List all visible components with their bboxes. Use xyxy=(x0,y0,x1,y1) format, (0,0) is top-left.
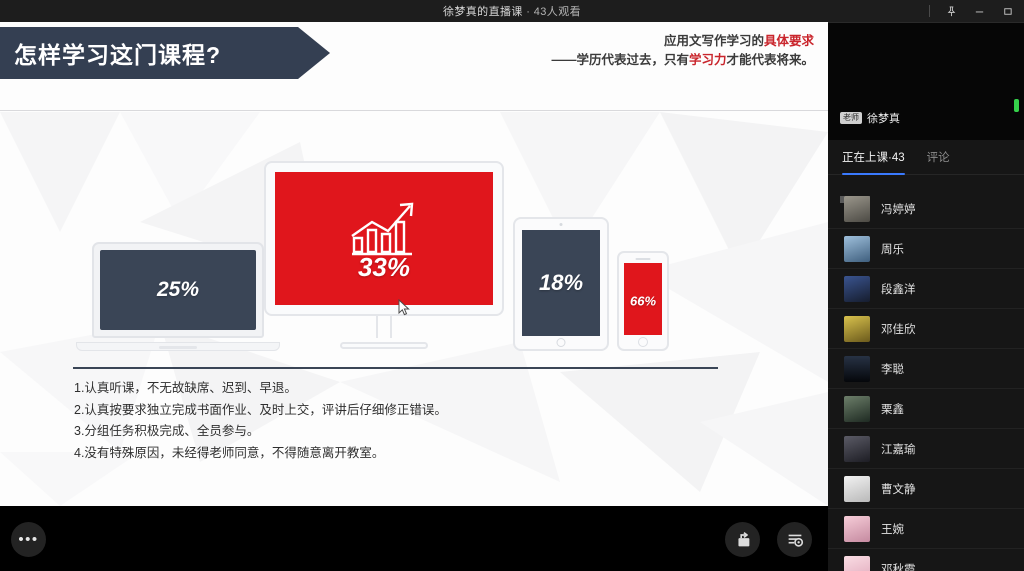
list-item[interactable]: 周乐 xyxy=(828,229,1024,269)
share-screen-button[interactable] xyxy=(725,522,760,557)
avatar xyxy=(844,476,870,502)
subtitle-line-2: ——学历代表过去，只有学习力才能代表将来。 xyxy=(551,51,814,70)
subtitle-line-1: 应用文写作学习的具体要求 xyxy=(551,32,814,51)
subtitle-line-2-suffix: 才能代表将来。 xyxy=(726,53,814,67)
tab-comments[interactable]: 评论 xyxy=(927,140,950,174)
window-title-text: 徐梦真的直播课 xyxy=(443,6,523,18)
slide-title-banner: 怎样学习这门课程? xyxy=(0,27,330,79)
phone-speaker xyxy=(636,258,651,260)
title-bar: 徐梦真的直播课 · 43人观看 xyxy=(0,0,1024,22)
tablet-screen: 18% xyxy=(522,230,600,336)
playlist-settings-icon xyxy=(785,530,805,550)
subtitle-line-2-accent: 学习力 xyxy=(689,53,727,67)
divider xyxy=(929,5,930,17)
window-controls xyxy=(929,0,1020,22)
list-item: 3.分组任务积极完成、全员参与。 xyxy=(74,421,774,443)
panel-tabs: 正在上课·43 评论 xyxy=(828,140,1024,174)
monitor-neck xyxy=(376,316,392,338)
list-item[interactable]: 曹文静 xyxy=(828,469,1024,509)
tablet-device: 18% xyxy=(513,217,609,351)
list-item[interactable]: 冯婷婷 xyxy=(828,189,1024,229)
teacher-badge: 老师 xyxy=(840,112,862,124)
participant-name: 段鑫洋 xyxy=(881,281,916,297)
participant-name: 李聪 xyxy=(881,361,904,377)
participant-name: 冯婷婷 xyxy=(881,201,916,217)
avatar xyxy=(844,356,870,382)
stage-toolbar: ••• xyxy=(0,506,828,571)
list-item[interactable]: 王婉 xyxy=(828,509,1024,549)
participant-list[interactable]: 冯婷婷 周乐 段鑫洋 邓佳欣 李聪 栗鑫 xyxy=(828,189,1024,571)
avatar xyxy=(844,436,870,462)
list-item[interactable]: 段鑫洋 xyxy=(828,269,1024,309)
list-item[interactable]: 邓秋霞 xyxy=(828,549,1024,571)
participant-name: 邓佳欣 xyxy=(881,321,916,337)
subtitle-line-2-prefix: ——学历代表过去，只有 xyxy=(551,53,689,67)
minimize-icon[interactable] xyxy=(966,0,992,22)
phone-percentage: 66% xyxy=(619,294,667,309)
window-title: 徐梦真的直播课 · 43人观看 xyxy=(443,3,581,19)
avatar xyxy=(844,236,870,262)
participant-name: 江嘉瑜 xyxy=(881,441,916,457)
slide-canvas: 怎样学习这门课程? 应用文写作学习的具体要求 ——学历代表过去，只有学习力才能代… xyxy=(0,22,828,506)
monitor-body: 33% xyxy=(264,161,504,316)
list-item: 1.认真听课，不无故缺席、迟到、早退。 xyxy=(74,378,774,400)
pin-icon[interactable] xyxy=(938,0,964,22)
share-screen-icon xyxy=(733,530,753,550)
live-class-window: 徐梦真的直播课 · 43人观看 xyxy=(0,0,1024,571)
avatar xyxy=(844,316,870,342)
laptop-base xyxy=(76,342,280,351)
tab-comments-label: 评论 xyxy=(927,152,950,164)
laptop-body: 25% xyxy=(92,242,264,338)
avatar xyxy=(844,396,870,422)
laptop-trackpad-notch xyxy=(159,346,197,349)
mic-level-icon xyxy=(1014,99,1019,112)
list-item[interactable]: 栗鑫 xyxy=(828,389,1024,429)
monitor-screen: 33% xyxy=(275,172,493,305)
presentation-stage[interactable]: 怎样学习这门课程? 应用文写作学习的具体要求 ——学历代表过去，只有学习力才能代… xyxy=(0,22,828,571)
page-title: 怎样学习这门课程? xyxy=(0,36,221,70)
monitor-percentage: 33% xyxy=(275,252,493,283)
list-item[interactable]: 江嘉瑜 xyxy=(828,429,1024,469)
mouse-cursor xyxy=(398,299,410,317)
device-illustration-group: 25% xyxy=(0,117,828,362)
tablet-home-button xyxy=(557,338,566,347)
horizontal-rule xyxy=(73,367,718,369)
viewer-count: · 43人观看 xyxy=(526,6,581,18)
slide-subtitle: 应用文写作学习的具体要求 ——学历代表过去，只有学习力才能代表将来。 xyxy=(551,32,814,71)
tablet-percentage: 18% xyxy=(522,270,600,296)
avatar xyxy=(844,556,870,571)
phone-home-button xyxy=(638,337,648,347)
avatar xyxy=(844,196,870,222)
playlist-settings-button[interactable] xyxy=(777,522,812,557)
laptop-screen: 25% xyxy=(100,250,256,330)
header-divider xyxy=(0,110,828,111)
participant-name: 邓秋霞 xyxy=(881,561,916,571)
tab-in-class[interactable]: 正在上课·43 xyxy=(842,140,905,174)
teacher-video-tile[interactable]: 老师 徐梦真 xyxy=(828,22,1024,140)
growth-chart-icon xyxy=(348,198,420,260)
participant-name: 曹文静 xyxy=(881,481,916,497)
list-item[interactable]: 李聪 xyxy=(828,349,1024,389)
tab-in-class-label: 正在上课·43 xyxy=(842,152,905,164)
requirements-list: 1.认真听课，不无故缺席、迟到、早退。 2.认真按要求独立完成书面作业、及时上交… xyxy=(74,378,774,464)
list-item: 2.认真按要求独立完成书面作业、及时上交，评讲后仔细修正错误。 xyxy=(74,400,774,422)
laptop-percentage: 25% xyxy=(100,278,256,302)
monitor-foot xyxy=(340,342,428,349)
teacher-name-tag: 老师 徐梦真 xyxy=(840,110,900,126)
tablet-camera xyxy=(560,223,563,226)
right-panel: 老师 徐梦真 正在上课·43 评论 冯婷婷 周乐 xyxy=(828,22,1024,571)
subtitle-line-1-prefix: 应用文写作学习的 xyxy=(664,34,764,48)
list-item: 4.没有特殊原因，未经得老师同意，不得随意离开教室。 xyxy=(74,443,774,465)
subtitle-line-1-accent: 具体要求 xyxy=(764,34,814,48)
more-options-button[interactable]: ••• xyxy=(11,522,46,557)
participant-name: 周乐 xyxy=(881,241,904,257)
participant-name: 栗鑫 xyxy=(881,401,904,417)
monitor-device: 33% xyxy=(264,161,504,349)
phone-screen: 66% xyxy=(624,263,662,335)
avatar xyxy=(844,516,870,542)
teacher-name: 徐梦真 xyxy=(867,110,900,126)
participant-name: 王婉 xyxy=(881,521,904,537)
phone-device: 66% xyxy=(617,251,669,351)
maximize-icon[interactable] xyxy=(994,0,1020,22)
more-options-label: ••• xyxy=(18,536,38,544)
laptop-device: 25% xyxy=(76,242,280,351)
avatar xyxy=(844,276,870,302)
list-item[interactable]: 邓佳欣 xyxy=(828,309,1024,349)
